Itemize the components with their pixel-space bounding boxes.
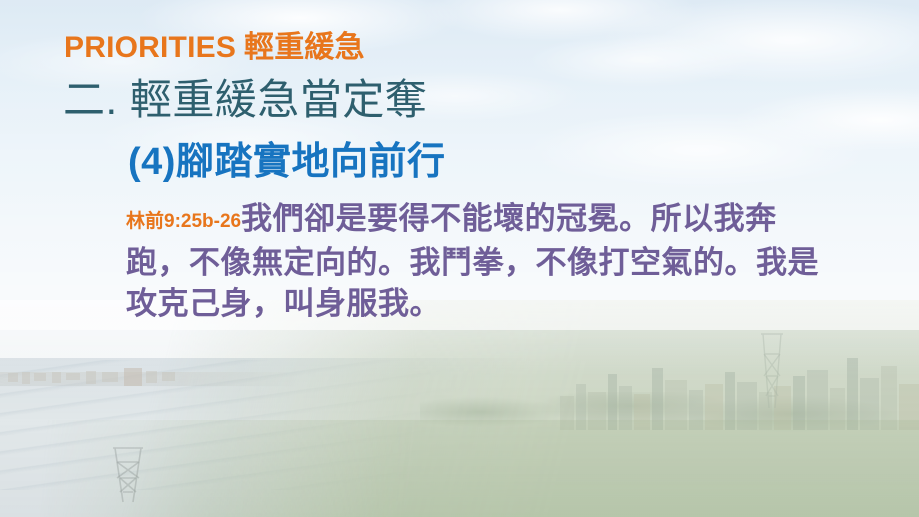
- scripture-reference: 林前9:25b-26: [126, 211, 241, 232]
- slide-text-content: PRIORITIES輕重緩急 二. 輕重緩急當定奪 (4)腳踏實地向前行 林前9…: [0, 0, 919, 517]
- scripture-block: 林前9:25b-26我們卻是要得不能壞的冠冕。所以我奔跑，不像無定向的。我鬥拳，…: [126, 198, 838, 324]
- slide-heading: 二. 輕重緩急當定奪: [63, 66, 427, 127]
- slide-kicker-title: PRIORITIES輕重緩急: [64, 22, 365, 66]
- presentation-slide: PRIORITIES輕重緩急 二. 輕重緩急當定奪 (4)腳踏實地向前行 林前9…: [0, 0, 919, 517]
- slide-kicker-title-chinese: 輕重緩急: [244, 31, 365, 64]
- slide-subheading: (4)腳踏實地向前行: [128, 130, 445, 185]
- slide-kicker-title-english: PRIORITIES: [64, 31, 236, 64]
